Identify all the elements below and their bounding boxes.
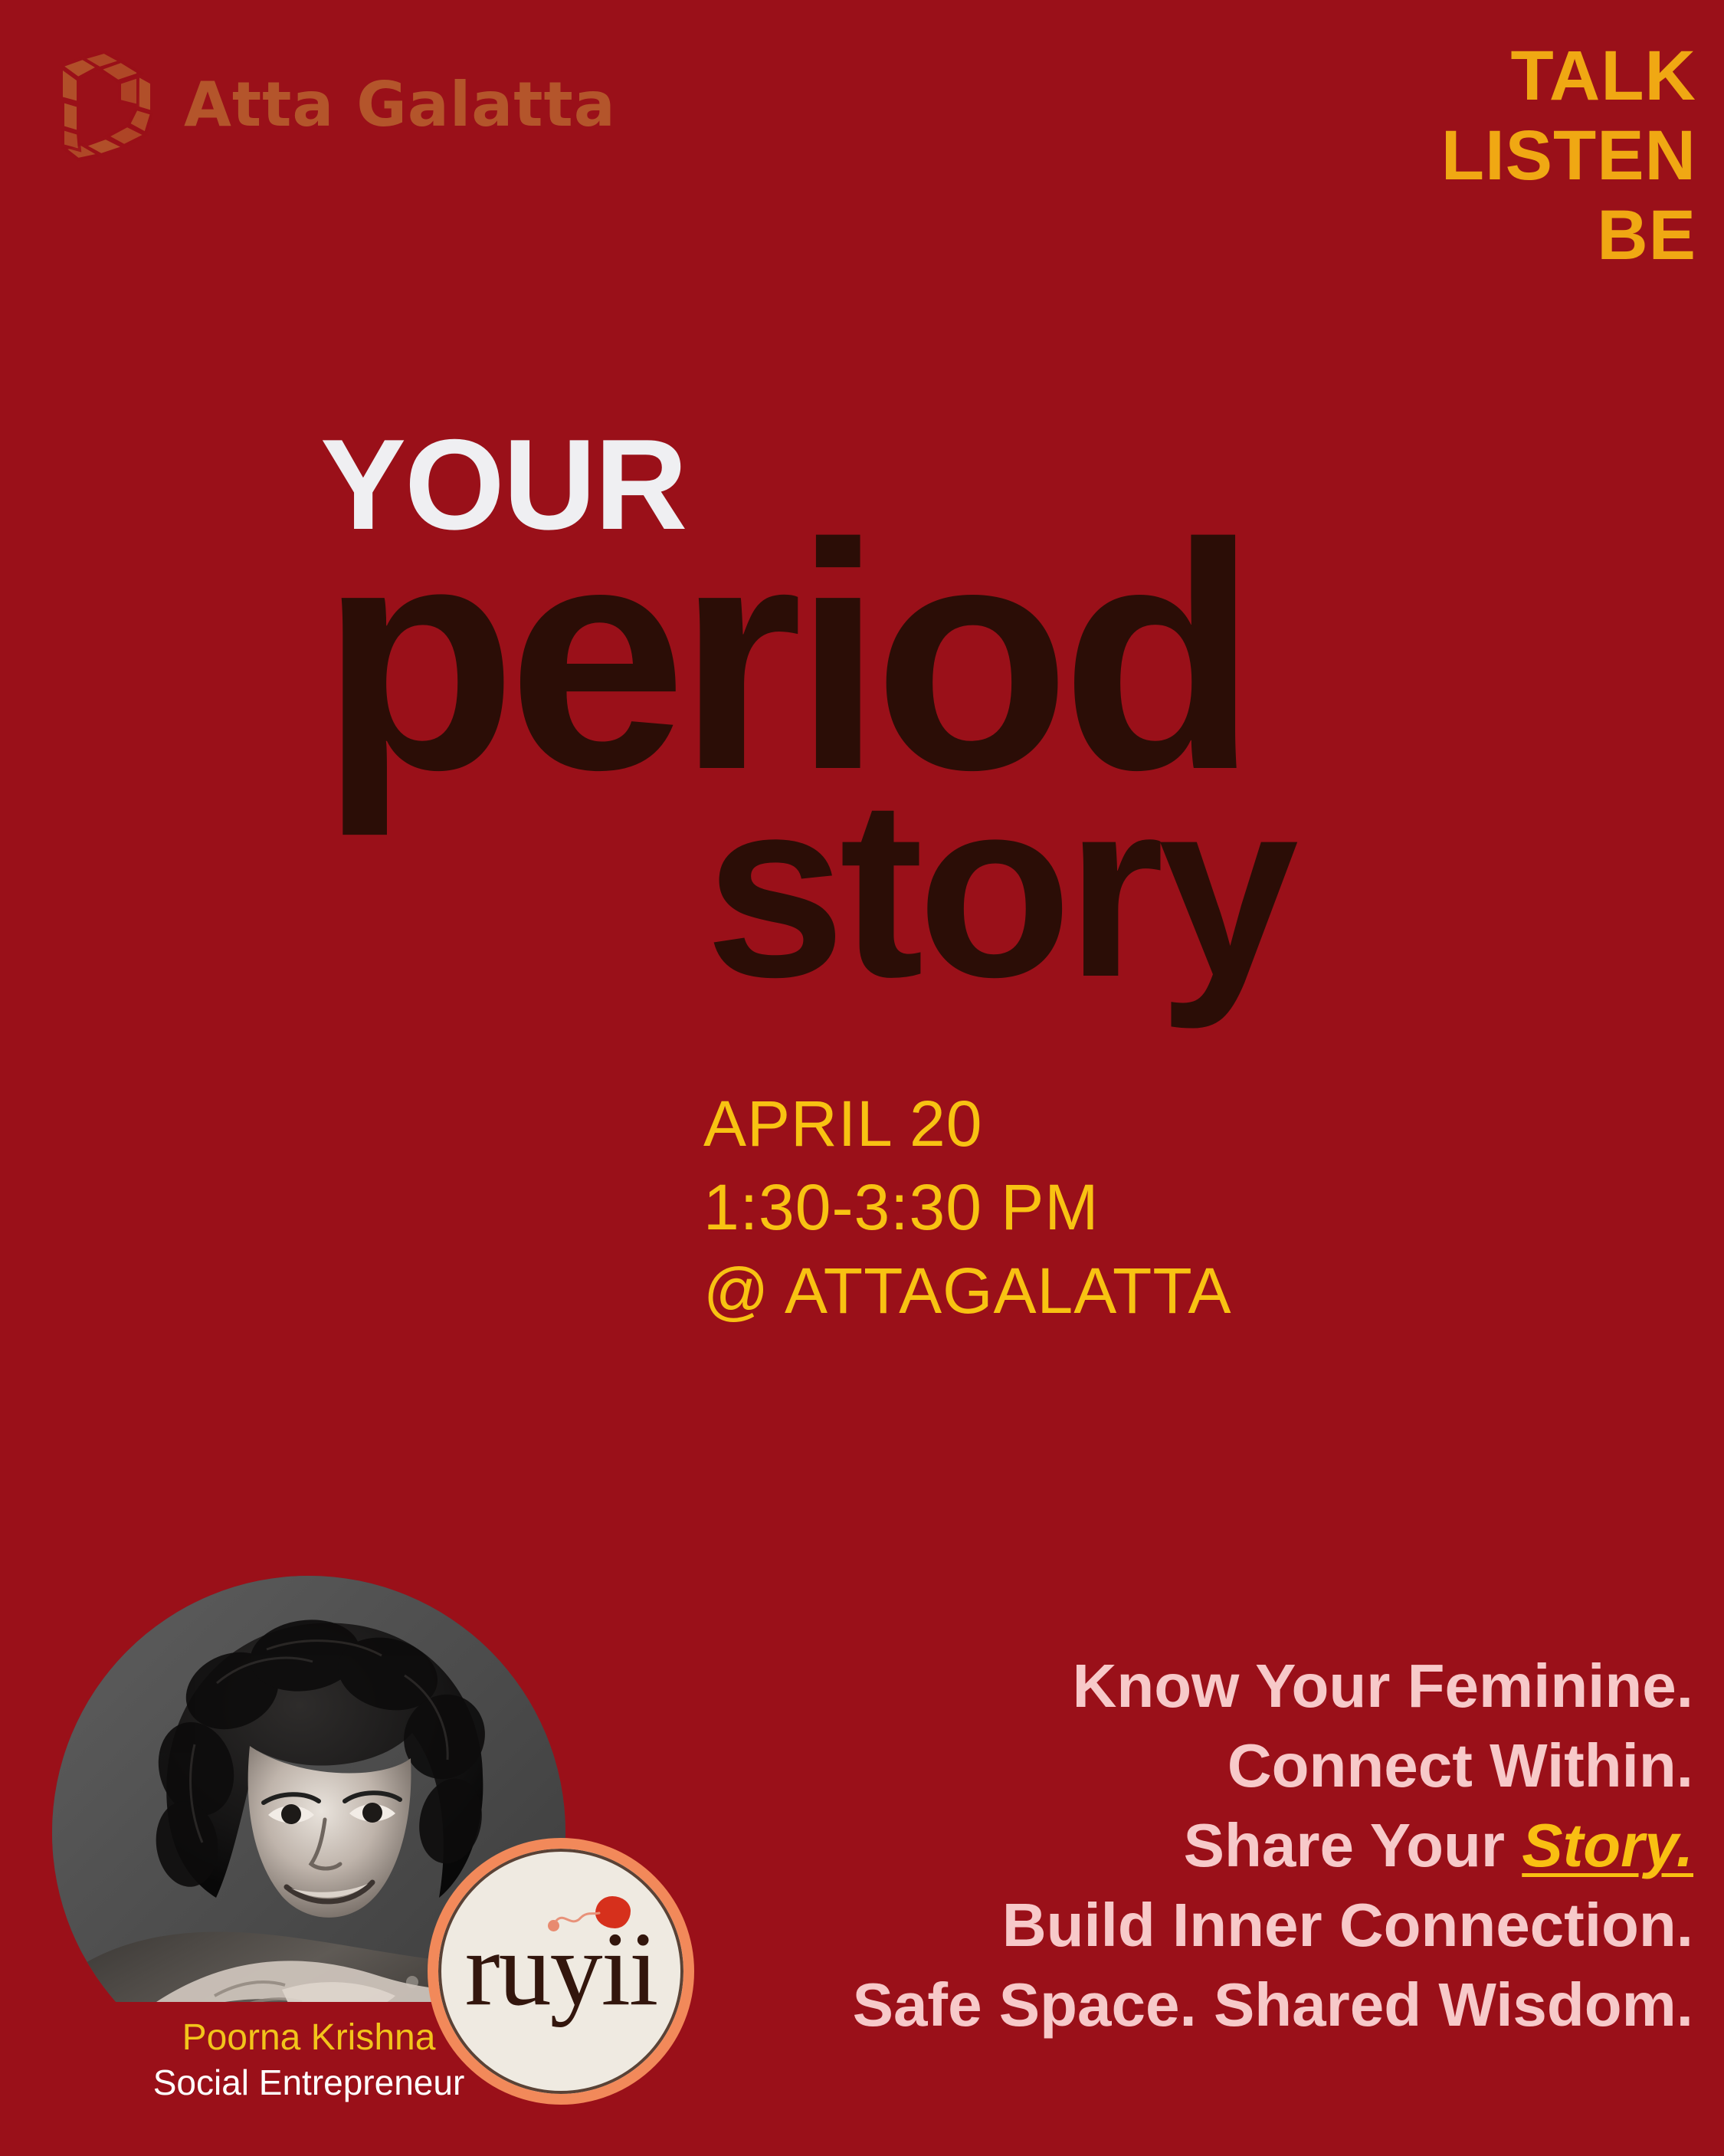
event-time: 1:30-3:30 PM bbox=[703, 1166, 1231, 1249]
motto-line-be: BE bbox=[1441, 196, 1696, 276]
event-details: APRIL 20 1:30-3:30 PM @ ATTAGALATTA bbox=[703, 1082, 1231, 1334]
brand-wordmark: Atta Galatta bbox=[184, 74, 616, 136]
motto-block: TALK LISTEN BE bbox=[1441, 37, 1696, 276]
tagline-story-emphasis: Story. bbox=[1522, 1811, 1693, 1879]
tagline-line-1: Know Your Feminine. bbox=[789, 1646, 1693, 1726]
tagline-line-2: Connect Within. bbox=[789, 1726, 1693, 1806]
ruyii-badge-inner: ruyii bbox=[438, 1849, 683, 2094]
tagline-line-3-text: Share Your bbox=[1184, 1811, 1522, 1879]
event-date: APRIL 20 bbox=[703, 1082, 1231, 1166]
motto-line-listen: LISTEN bbox=[1441, 116, 1696, 196]
tagline-line-4: Build Inner Connection. bbox=[789, 1885, 1693, 1965]
brand-header: Atta Galatta bbox=[48, 48, 616, 162]
ruyii-wordmark: ruyii bbox=[438, 1916, 683, 2022]
ruyii-partner-badge: ruyii bbox=[428, 1838, 694, 2105]
atta-galatta-mark-icon bbox=[48, 48, 162, 162]
title-line-story: story bbox=[705, 762, 1293, 1015]
event-poster: Atta Galatta TALK LISTEN BE YOUR period … bbox=[0, 0, 1724, 2156]
tagline-block: Know Your Feminine. Connect Within. Shar… bbox=[789, 1646, 1693, 2045]
tagline-line-5: Safe Space. Shared Wisdom. bbox=[789, 1965, 1693, 2045]
tagline-line-3: Share Your Story. bbox=[789, 1806, 1693, 1885]
event-venue: @ ATTAGALATTA bbox=[703, 1249, 1231, 1333]
drop-trail-icon bbox=[555, 1908, 601, 1928]
motto-line-talk: TALK bbox=[1441, 37, 1696, 116]
